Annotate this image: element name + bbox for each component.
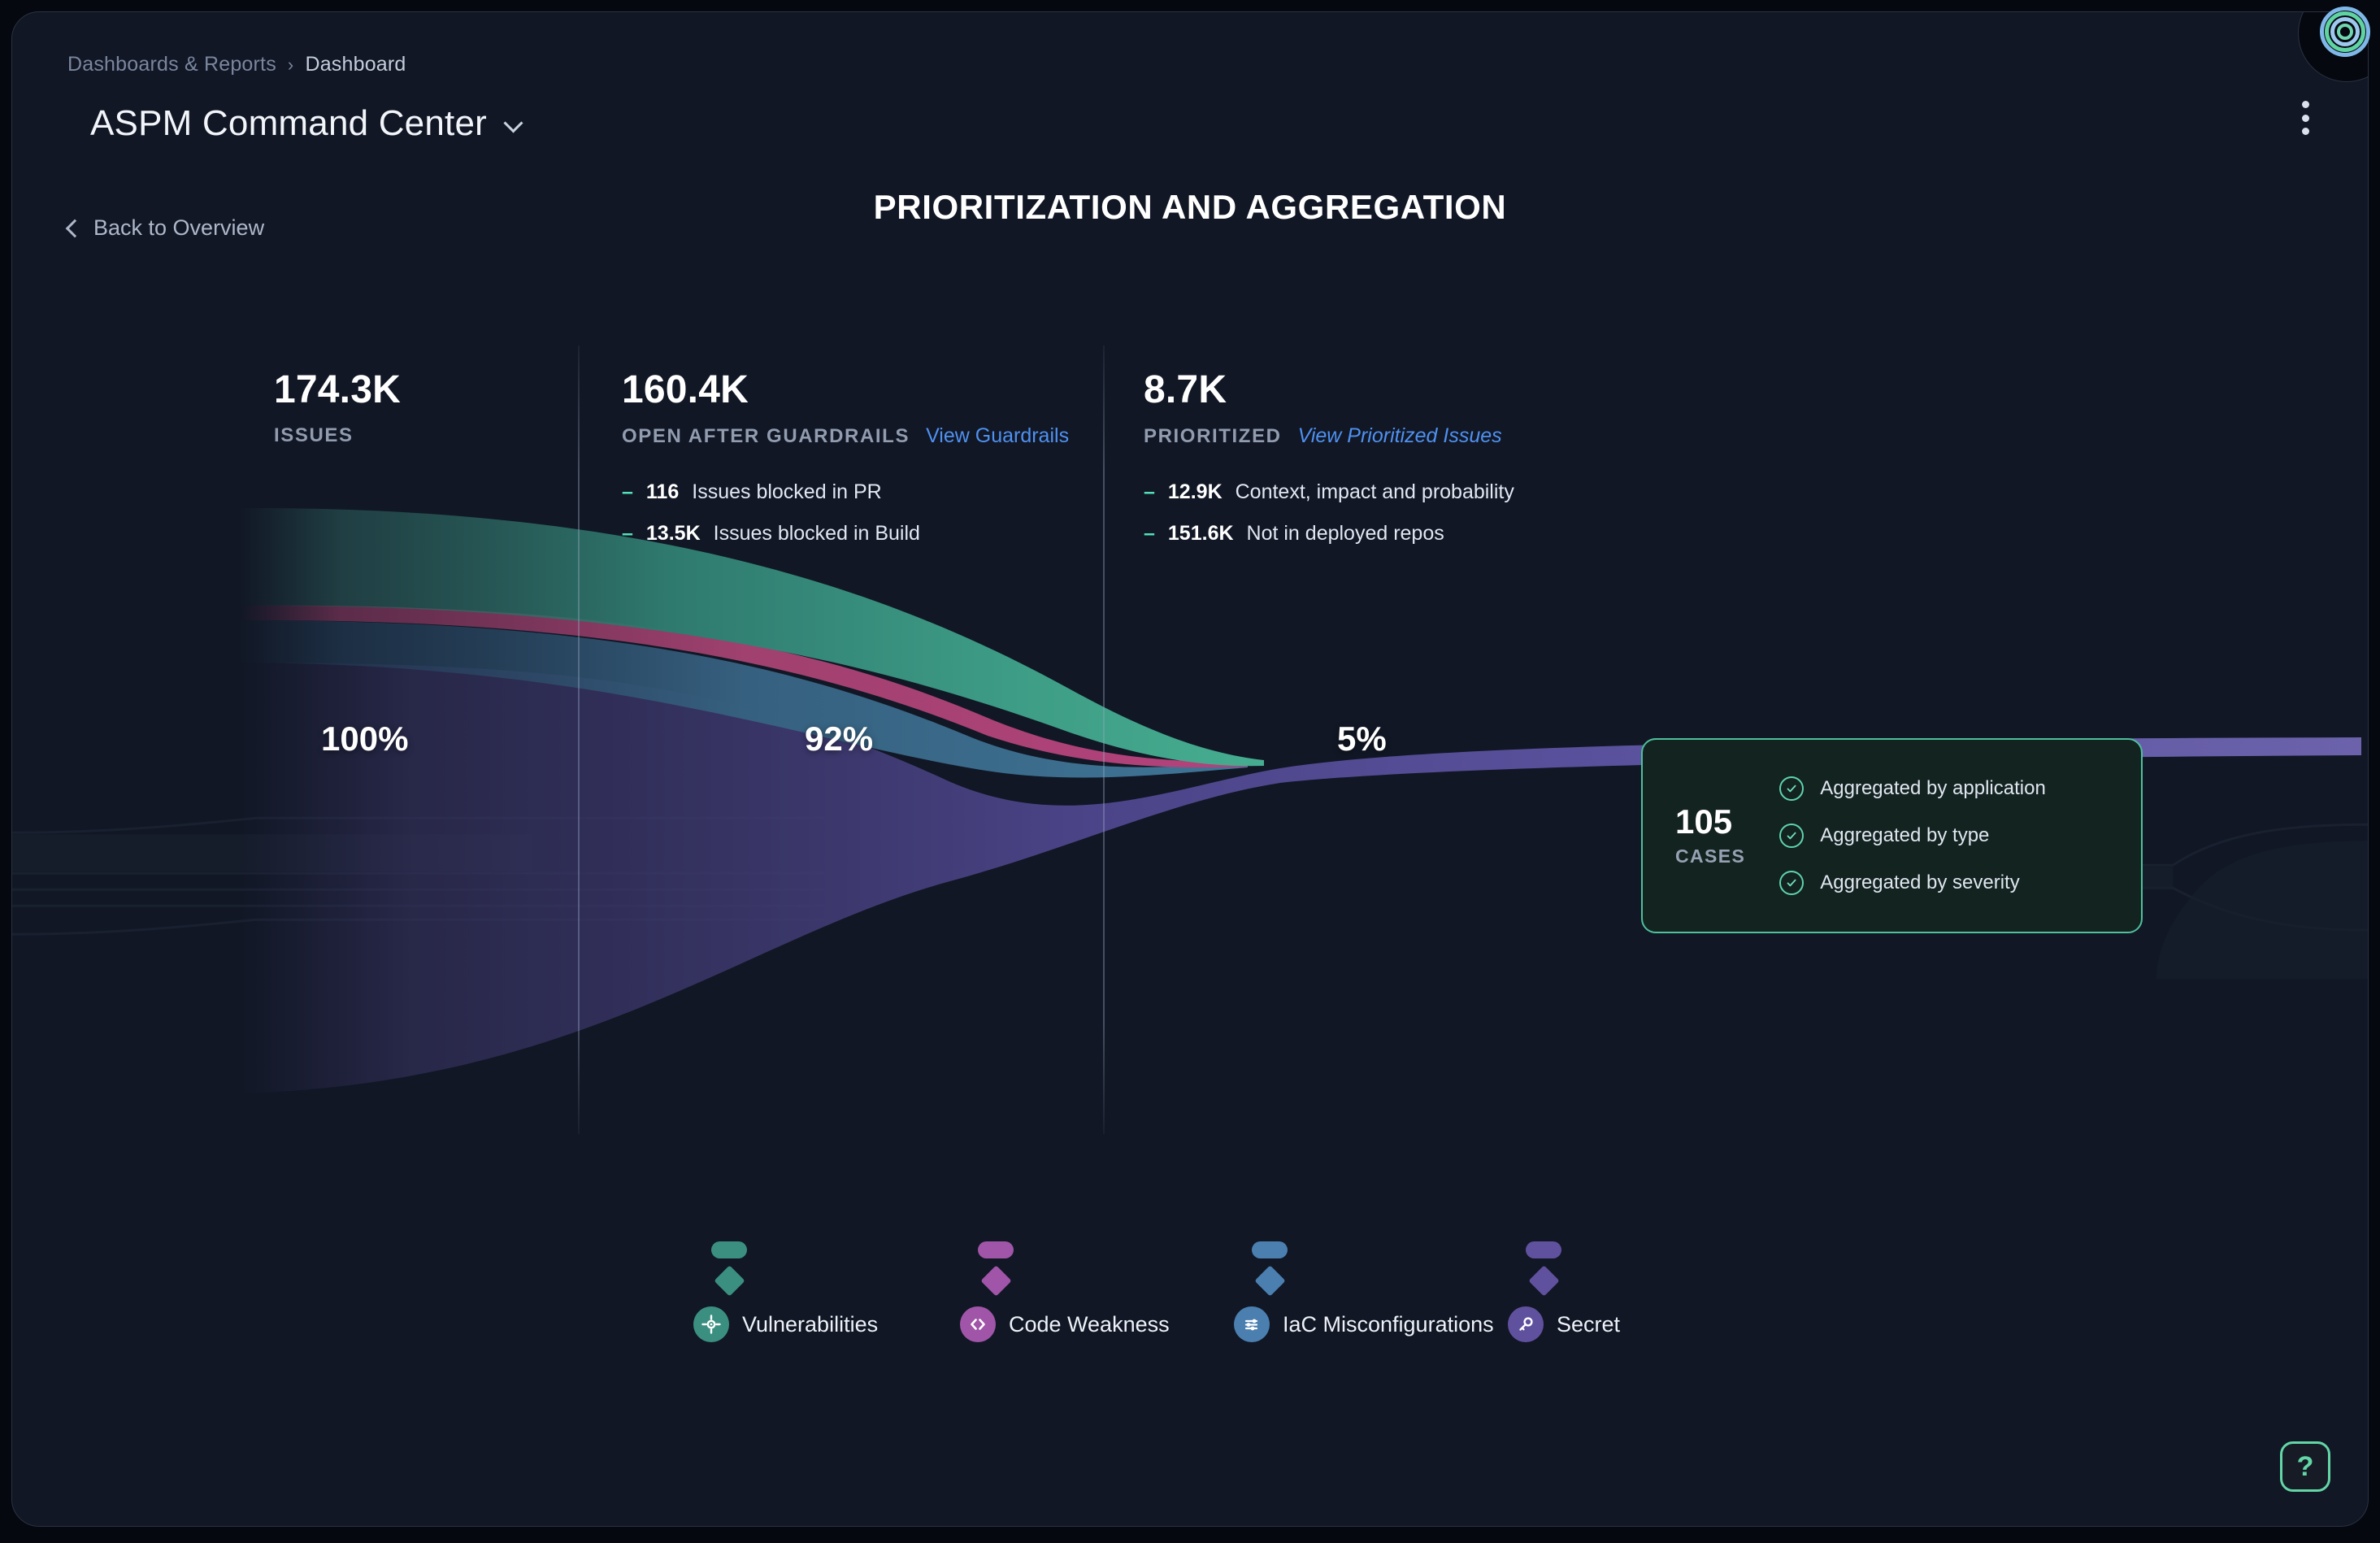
legend-item-vulnerabilities[interactable]: Vulnerabilities (711, 1241, 878, 1342)
cases-aggregation-list: Aggregated by application Aggregated by … (1779, 776, 2046, 895)
dash-bullet-icon: – (1144, 524, 1155, 544)
view-prioritized-issues-link[interactable]: View Prioritized Issues (1298, 424, 1502, 448)
list-item-text: Issues blocked in Build (714, 522, 920, 545)
list-item: – 12.9K Context, impact and probability (1144, 480, 1514, 504)
legend-diamond (980, 1265, 1011, 1296)
legend-item-secret[interactable]: Secret (1526, 1241, 1620, 1342)
list-item: Aggregated by severity (1779, 871, 2046, 895)
list-item-count: 151.6K (1168, 522, 1234, 545)
cases-count: 105 (1675, 804, 1745, 840)
chart-legend: Vulnerabilities Code Weakness (12, 1241, 2369, 1355)
list-item: Aggregated by type (1779, 824, 2046, 848)
stat-value: 8.7K (1144, 370, 1514, 411)
stat-breakdown-list: – 12.9K Context, impact and probability … (1144, 480, 1514, 545)
list-item-label: Aggregated by application (1820, 777, 2046, 800)
flow-label-stage-1: 92% (805, 719, 873, 758)
app-root: Dashboards & Reports › Dashboard ASPM Co… (0, 0, 2380, 1543)
list-item-count: 12.9K (1168, 480, 1223, 504)
stage-divider-2 (1103, 346, 1105, 1134)
target-icon (693, 1306, 729, 1342)
cases-card: 105 CASES Aggregated by application Aggr… (1641, 738, 2143, 933)
stat-column-open-after-guardrails: 160.4K OPEN AFTER GUARDRAILS View Guardr… (622, 370, 1069, 545)
list-item-text: Not in deployed repos (1247, 522, 1444, 545)
legend-diamond (1254, 1265, 1285, 1296)
chevron-down-icon[interactable] (505, 116, 523, 134)
list-item-label: Aggregated by severity (1820, 871, 2019, 894)
breadcrumb-separator-icon: › (288, 54, 294, 76)
dash-bullet-icon: – (1144, 482, 1155, 502)
stat-value: 174.3K (274, 370, 401, 411)
stat-column-prioritized: 8.7K PRIORITIZED View Prioritized Issues… (1144, 370, 1514, 545)
cases-caption: CASES (1675, 845, 1745, 867)
legend-pill (711, 1241, 747, 1258)
stage-divider-1 (578, 346, 580, 1134)
list-item: – 13.5K Issues blocked in Build (622, 522, 1069, 545)
legend-label: Secret (1557, 1312, 1620, 1337)
legend-label: IaC Misconfigurations (1283, 1312, 1494, 1337)
dash-bullet-icon: – (622, 524, 633, 544)
flow-label-stage-2: 5% (1337, 719, 1387, 758)
key-icon (1508, 1306, 1544, 1342)
check-circle-icon (1779, 776, 1804, 801)
stat-column-issues: 174.3K ISSUES (274, 370, 401, 447)
view-guardrails-link[interactable]: View Guardrails (926, 424, 1069, 448)
stat-label: PRIORITIZED (1144, 425, 1282, 448)
list-item-count: 116 (646, 480, 679, 504)
stat-breakdown-list: – 116 Issues blocked in PR – 13.5K Issue… (622, 480, 1069, 545)
list-item-text: Context, impact and probability (1236, 480, 1514, 504)
cases-summary: 105 CASES (1675, 804, 1745, 867)
check-circle-icon (1779, 871, 1804, 895)
legend-pill (1252, 1241, 1288, 1258)
dashboard-name: ASPM Command Center (90, 103, 487, 144)
legend-item-iac-misconfigurations[interactable]: IaC Misconfigurations (1252, 1241, 1494, 1342)
flow-label-stage-0: 100% (321, 719, 408, 758)
breadcrumb-root[interactable]: Dashboards & Reports (67, 53, 276, 76)
breadcrumb-current[interactable]: Dashboard (305, 53, 406, 76)
dash-bullet-icon: – (622, 482, 633, 502)
help-glyph: ? (2297, 1451, 2314, 1483)
page-title: PRIORITIZATION AND AGGREGATION (12, 188, 2368, 227)
legend-item-code-weakness[interactable]: Code Weakness (978, 1241, 1170, 1342)
list-item-label: Aggregated by type (1820, 824, 1989, 847)
list-item: Aggregated by application (1779, 776, 2046, 801)
dashboard-selector[interactable]: ASPM Command Center (90, 103, 523, 144)
more-vertical-icon[interactable] (2291, 98, 2319, 138)
stat-label: OPEN AFTER GUARDRAILS (622, 425, 910, 448)
list-item: – 116 Issues blocked in PR (622, 480, 1069, 504)
list-item: – 151.6K Not in deployed repos (1144, 522, 1514, 545)
legend-diamond (714, 1265, 745, 1296)
stat-value: 160.4K (622, 370, 1069, 411)
brand-logo-icon (2320, 7, 2370, 57)
stat-label: ISSUES (274, 424, 354, 447)
legend-pill (978, 1241, 1014, 1258)
check-circle-icon (1779, 824, 1804, 848)
list-item-count: 13.5K (646, 522, 701, 545)
legend-diamond (1528, 1265, 1559, 1296)
code-brackets-icon (960, 1306, 996, 1342)
breadcrumb: Dashboards & Reports › Dashboard (67, 53, 406, 76)
legend-label: Vulnerabilities (742, 1312, 878, 1337)
dashboard-panel: Dashboards & Reports › Dashboard ASPM Co… (11, 11, 2369, 1527)
sliders-icon (1234, 1306, 1270, 1342)
legend-label: Code Weakness (1009, 1312, 1170, 1337)
list-item-text: Issues blocked in PR (692, 480, 881, 504)
legend-pill (1526, 1241, 1561, 1258)
help-icon[interactable]: ? (2280, 1441, 2330, 1492)
